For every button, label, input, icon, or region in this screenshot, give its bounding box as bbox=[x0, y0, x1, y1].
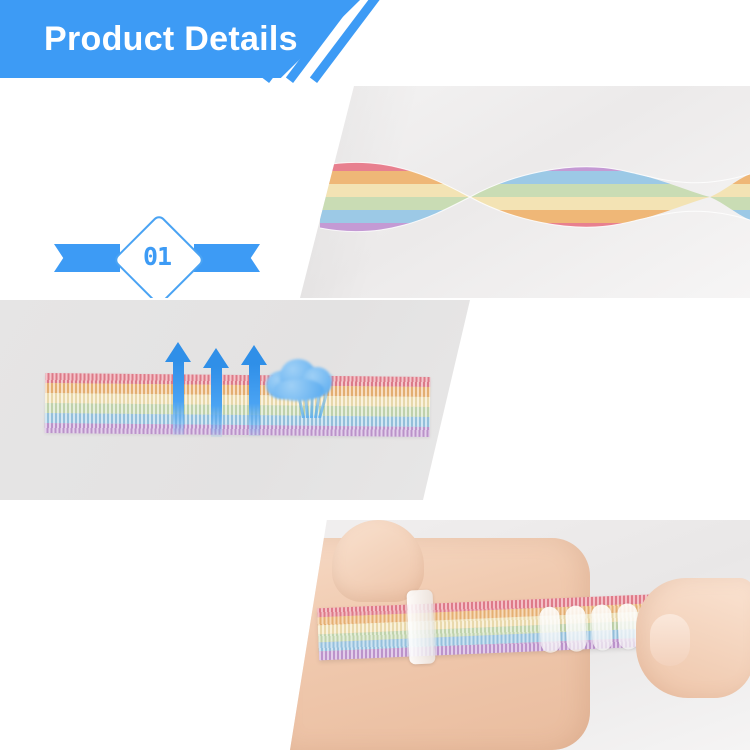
badge-01: 01 soft bbox=[52, 214, 262, 298]
hand-icon bbox=[636, 578, 750, 698]
panel-soft: 01 soft bbox=[0, 86, 750, 298]
page-header: Product Details bbox=[0, 0, 750, 86]
badge-graphic: 01 bbox=[52, 214, 262, 298]
badge-number: 01 bbox=[52, 242, 262, 271]
band-keeper-loop-icon bbox=[406, 589, 435, 664]
thumbnail-icon bbox=[650, 614, 690, 666]
velcro-adjust-photo bbox=[290, 520, 750, 750]
rainbow-band-flat-icon bbox=[45, 373, 431, 437]
twisted-band-photo bbox=[300, 86, 750, 298]
twisted-rainbow-band-icon bbox=[320, 158, 750, 236]
air-cloud-icon bbox=[262, 355, 334, 401]
panel-adjustable-velcro: 03 adjustable velcro bbox=[0, 520, 750, 750]
panel-breathable: 02 breathable bbox=[0, 300, 750, 500]
breathability-illustration bbox=[0, 300, 470, 500]
product-details-infographic: Product Details bbox=[0, 0, 750, 750]
page-title: Product Details bbox=[44, 0, 298, 78]
